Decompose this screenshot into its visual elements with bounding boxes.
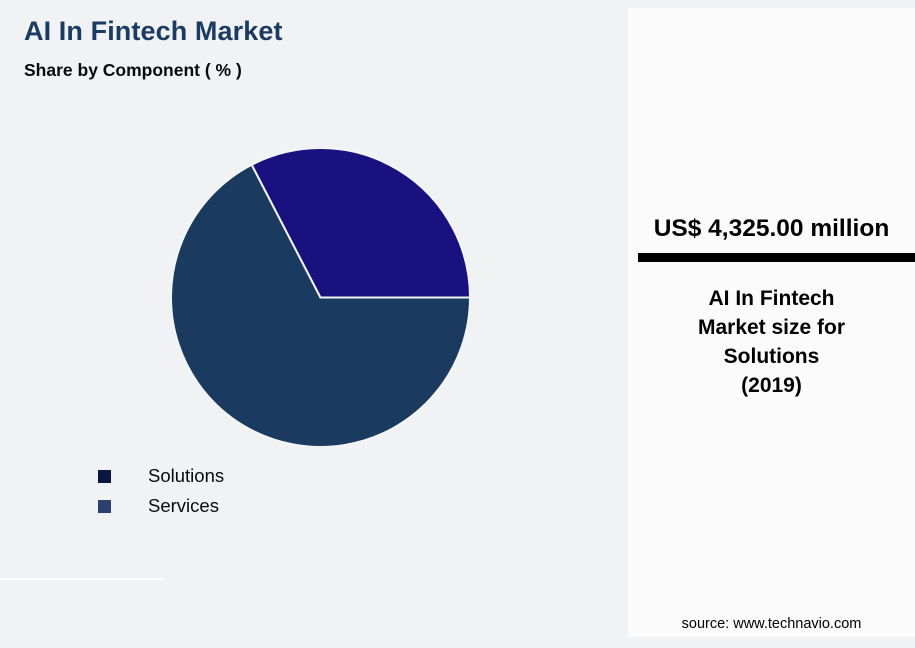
- kpi-info-panel: US$ 4,325.00 million AI In FintechMarket…: [628, 8, 915, 637]
- decorative-divider: [0, 578, 165, 580]
- legend-swatch-services: [98, 500, 111, 513]
- kpi-accent-bar: [638, 253, 915, 262]
- kpi-caption: AI In FintechMarket size forSolutions(20…: [628, 284, 915, 400]
- kpi-value: US$ 4,325.00 million: [628, 215, 915, 243]
- pie-graphic: [171, 148, 470, 447]
- kpi-caption-line-4: (2019): [628, 371, 915, 400]
- kpi-caption-line-2: Market size for: [628, 313, 915, 342]
- chart-canvas: AI In Fintech Market Share by Component …: [0, 0, 915, 648]
- legend-item-services[interactable]: Services: [98, 491, 224, 521]
- page-title: AI In Fintech Market: [24, 16, 283, 47]
- chart-subtitle: Share by Component ( % ): [24, 60, 242, 81]
- legend-label-solutions: Solutions: [148, 465, 224, 487]
- legend-item-solutions[interactable]: Solutions: [98, 461, 224, 491]
- pie-svg: [171, 148, 470, 447]
- kpi-caption-line-1: AI In Fintech: [628, 284, 915, 313]
- chart-legend: Solutions Services: [98, 461, 224, 521]
- legend-swatch-solutions: [98, 470, 111, 483]
- source-attribution: source: www.technavio.com: [628, 616, 915, 632]
- kpi-caption-line-3: Solutions: [628, 342, 915, 371]
- legend-label-services: Services: [148, 495, 219, 517]
- pie-chart-panel: AI In Fintech Market Share by Component …: [0, 0, 628, 648]
